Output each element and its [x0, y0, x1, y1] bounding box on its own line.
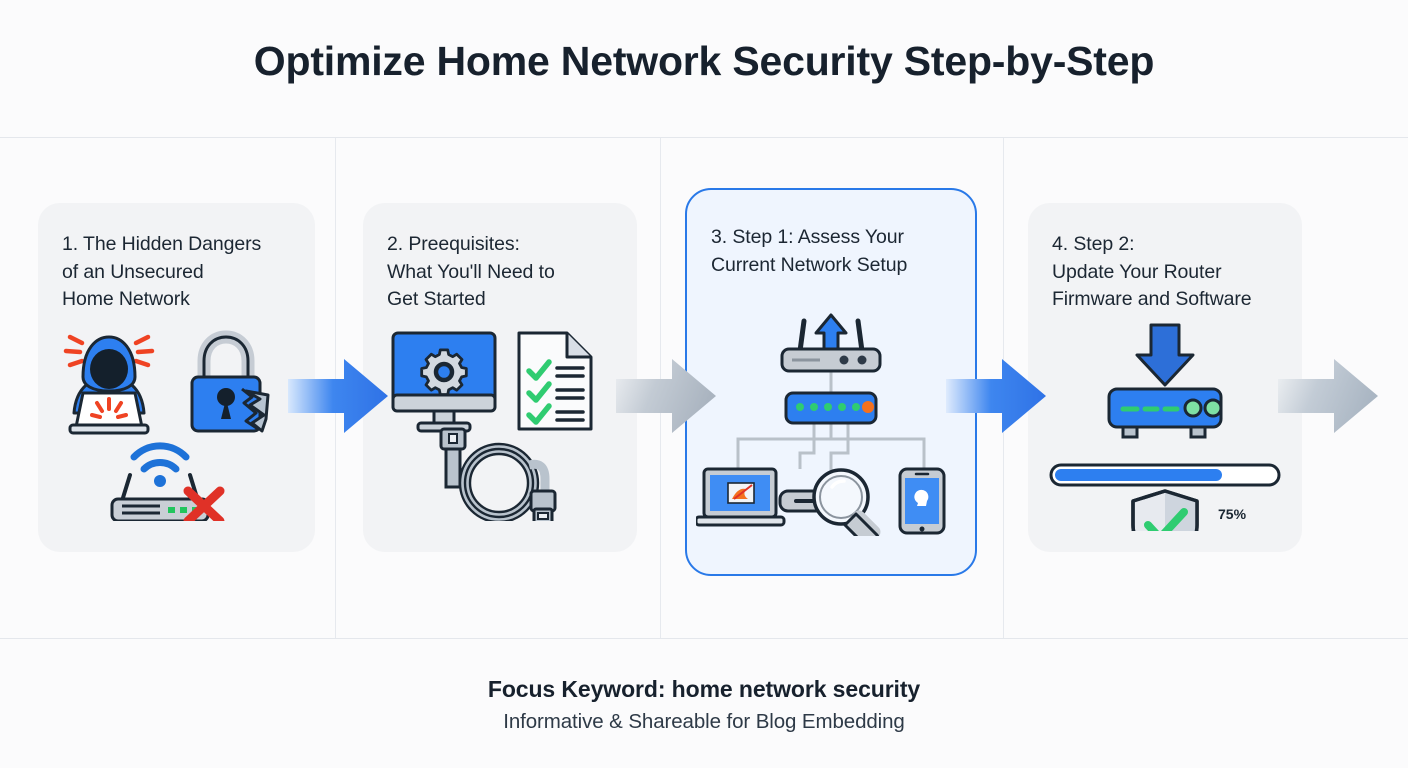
smartphone-icon	[900, 469, 944, 533]
divider-top	[0, 137, 1408, 138]
download-arrow-icon	[1137, 325, 1193, 385]
step-card-2[interactable]: 2. Preequisites: What You'll Need to Get…	[363, 203, 637, 552]
flow-arrow-4	[1278, 357, 1378, 435]
network-switch-icon	[786, 393, 876, 423]
progress-bar	[1051, 465, 1279, 485]
footer: Focus Keyword: home network security Inf…	[0, 676, 1408, 734]
divider-bottom	[0, 638, 1408, 639]
prerequisite-icons-group	[375, 321, 625, 521]
wifi-router-disabled-icon	[112, 446, 220, 521]
step-card-4[interactable]: 4. Step 2: Update Your Router Firmware a…	[1028, 203, 1302, 552]
step-card-1-artwork	[38, 321, 315, 521]
wireless-router-icon	[782, 315, 880, 371]
upload-arrow-icon	[816, 315, 846, 351]
danger-icons-group	[52, 321, 302, 521]
flow-arrow-2	[616, 357, 716, 435]
step-card-3-artwork	[687, 308, 975, 538]
checklist-document-icon	[519, 333, 591, 429]
flow-arrow-1	[288, 357, 388, 435]
step-card-1[interactable]: 1. The Hidden Dangers of an Unsecured Ho…	[38, 203, 315, 552]
step-card-3-title: 3. Step 1: Assess Your Current Network S…	[711, 224, 951, 279]
ethernet-cable-icon	[441, 429, 555, 521]
step-card-2-artwork	[363, 321, 637, 521]
step-card-4-title: 4. Step 2: Update Your Router Firmware a…	[1052, 231, 1278, 314]
shield-check-icon	[1133, 491, 1197, 531]
page-title: Optimize Home Network Security Step-by-S…	[0, 38, 1408, 85]
step-card-1-title: 1. The Hidden Dangers of an Unsecured Ho…	[62, 231, 291, 314]
monitor-gear-icon	[393, 333, 495, 431]
hacker-laptop-icon	[66, 337, 152, 433]
progress-percent-label: 75%	[1218, 506, 1246, 522]
modem-icon	[1109, 389, 1221, 437]
step-card-3[interactable]: 3. Step 1: Assess Your Current Network S…	[685, 188, 977, 576]
network-topology-diagram	[696, 311, 966, 536]
footer-subtitle: Informative & Shareable for Blog Embeddi…	[0, 710, 1408, 734]
firmware-update-group	[1045, 321, 1285, 531]
magnifier-icon	[780, 470, 878, 536]
broken-padlock-icon	[192, 337, 268, 431]
step-card-4-artwork	[1028, 321, 1302, 531]
focus-keyword-label: Focus Keyword: home network security	[0, 676, 1408, 703]
laptop-icon	[696, 469, 784, 525]
flow-arrow-3	[946, 357, 1046, 435]
step-card-2-title: 2. Preequisites: What You'll Need to Get…	[387, 231, 613, 314]
